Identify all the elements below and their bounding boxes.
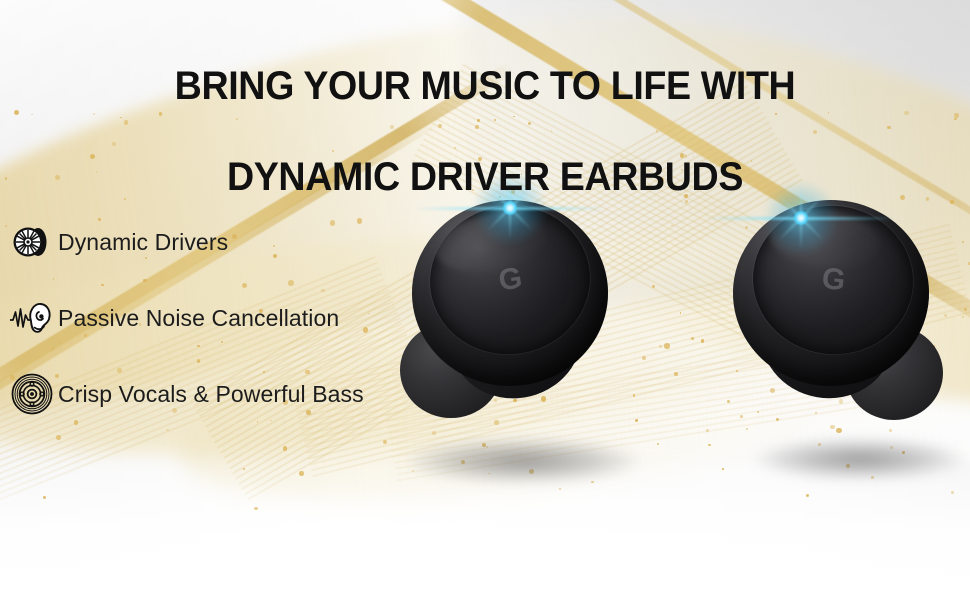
product-banner: BRING YOUR MUSIC TO LIFE WITH DYNAMIC DR… (0, 0, 970, 600)
page-title: BRING YOUR MUSIC TO LIFE WITH DYNAMIC DR… (29, 18, 941, 246)
headline-line-2: DYNAMIC DRIVER EARBUDS (29, 155, 941, 201)
headline-line-1: BRING YOUR MUSIC TO LIFE WITH (29, 64, 941, 110)
feature-item-dynamic-drivers: Dynamic Drivers (6, 218, 436, 266)
brand-logo: G (820, 262, 846, 298)
speaker-driver-icon (6, 220, 58, 264)
feature-label: Dynamic Drivers (58, 229, 228, 256)
feature-item-crisp-vocals: Crisp Vocals & Powerful Bass (6, 370, 436, 418)
feature-list: Dynamic Drivers Passive Noise Cancellati… (6, 218, 436, 446)
feature-label: Crisp Vocals & Powerful Bass (58, 381, 364, 408)
brand-logo: G (496, 261, 523, 298)
left-earbud-shadow (404, 438, 642, 484)
right-earbud-shadow (752, 438, 968, 480)
woofer-speaker-icon (6, 372, 58, 416)
feature-item-noise-cancellation: Passive Noise Cancellation (6, 294, 436, 342)
ear-soundwave-icon (6, 296, 58, 340)
feature-label: Passive Noise Cancellation (58, 305, 339, 332)
